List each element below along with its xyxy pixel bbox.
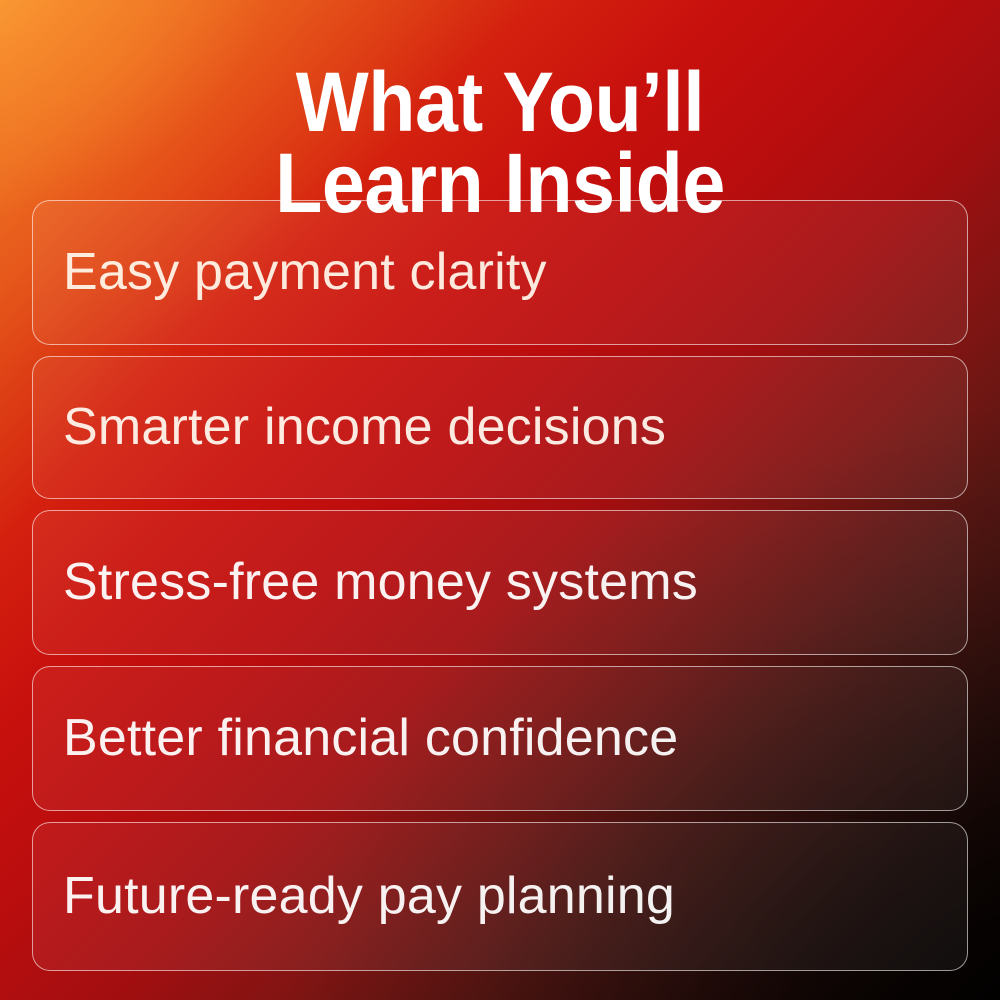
benefit-card-label: Stress-free money systems <box>33 555 726 610</box>
benefit-card-label: Smarter income decisions <box>33 400 694 455</box>
benefit-card[interactable]: Stress-free money systems <box>32 510 968 655</box>
benefit-card[interactable]: Future-ready pay planning <box>32 822 968 971</box>
benefit-card-label: Better financial confidence <box>33 711 706 766</box>
benefit-card-label: Easy payment clarity <box>33 245 575 300</box>
benefit-card[interactable]: Smarter income decisions <box>32 356 968 499</box>
benefit-card-label: Future-ready pay planning <box>33 869 703 924</box>
benefit-card-list: Easy payment clarity Smarter income deci… <box>32 200 968 971</box>
benefit-card[interactable]: Easy payment clarity <box>32 200 968 345</box>
poster-content: What You’ll Learn Inside Easy payment cl… <box>0 0 1000 1000</box>
benefit-card[interactable]: Better financial confidence <box>32 666 968 811</box>
promo-poster: What You’ll Learn Inside Easy payment cl… <box>0 0 1000 1000</box>
